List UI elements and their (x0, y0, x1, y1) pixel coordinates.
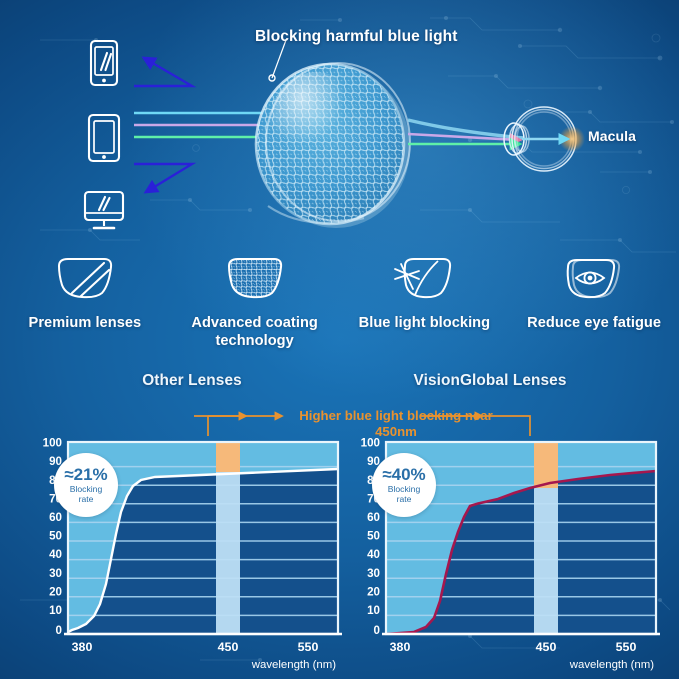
lens-eye-icon (563, 252, 625, 304)
feature-row: Premium lenses Advanced coating technolo… (0, 252, 679, 356)
feature-label: Reduce eye fatigue (527, 315, 661, 333)
chart-visionglobal-lenses: 1009080 706050 403020 100 380450550 wave… (338, 434, 668, 679)
feature-reduce-eye-fatigue: Reduce eye fatigue (509, 252, 679, 356)
x-axis-title-left: wavelength (nm) (251, 659, 336, 671)
svg-text:10: 10 (367, 604, 380, 617)
lens-blocking-icon (393, 252, 455, 304)
device-icon-group (82, 38, 130, 256)
svg-text:60: 60 (49, 511, 62, 524)
svg-text:30: 30 (49, 567, 62, 580)
badge-caption: Blocking rate (70, 485, 102, 504)
blocking-bar-left (216, 442, 240, 472)
infographic-root: Blocking harmful blue light Macula Premi… (0, 0, 679, 679)
badge-percent: ≈21% (64, 466, 107, 483)
blocking-rate-badge-right: ≈40% Blocking rate (372, 453, 436, 517)
svg-text:20: 20 (367, 585, 380, 598)
svg-text:100: 100 (361, 437, 380, 450)
svg-text:380: 380 (72, 640, 93, 654)
lens-coating-icon (224, 252, 286, 304)
lens-shine-icon (54, 252, 116, 304)
coated-lens (248, 56, 428, 232)
blocking-rate-badge-left: ≈21% Blocking rate (54, 453, 118, 517)
badge-caption: Blocking rate (388, 485, 420, 504)
svg-text:40: 40 (49, 548, 62, 561)
feature-blue-light-blocking: Blue light blocking (340, 252, 510, 356)
svg-text:60: 60 (367, 511, 380, 524)
charts-section: Other Lenses VisionGlobal Lenses Higher … (0, 372, 679, 679)
feature-premium-lenses: Premium lenses (0, 252, 170, 356)
svg-text:550: 550 (616, 640, 637, 654)
svg-text:40: 40 (367, 548, 380, 561)
svg-text:0: 0 (374, 624, 380, 637)
svg-text:50: 50 (367, 530, 380, 543)
svg-text:30: 30 (367, 567, 380, 580)
blocking-callout-label: Blocking harmful blue light (255, 28, 457, 46)
smartphone-icon (82, 38, 130, 90)
feature-advanced-coating: Advanced coating technology (170, 252, 340, 356)
feature-label: Premium lenses (29, 315, 142, 333)
svg-text:0: 0 (56, 624, 62, 637)
x-tick-labels-right: 380450550 (390, 640, 637, 654)
macula-label: Macula (588, 128, 636, 144)
svg-text:50: 50 (49, 530, 62, 543)
svg-text:20: 20 (49, 585, 62, 598)
chart-title-right: VisionGlobal Lenses (360, 372, 620, 390)
monitor-icon (82, 186, 130, 234)
tablet-icon (82, 112, 130, 164)
svg-text:10: 10 (49, 604, 62, 617)
svg-text:450: 450 (218, 640, 239, 654)
chart-title-left: Other Lenses (62, 372, 322, 390)
hero-diagram: Blocking harmful blue light Macula (0, 0, 679, 250)
svg-text:100: 100 (43, 437, 62, 450)
svg-text:550: 550 (298, 640, 319, 654)
x-axis-title-right: wavelength (nm) (569, 659, 654, 671)
chart-other-lenses: 1009080 706050 403020 100 380450550 wave… (20, 434, 350, 679)
feature-label: Blue light blocking (359, 315, 490, 333)
x-tick-labels-left: 380450550 (72, 640, 319, 654)
svg-text:450: 450 (536, 640, 557, 654)
badge-percent: ≈40% (382, 466, 425, 483)
svg-text:380: 380 (390, 640, 411, 654)
feature-label: Advanced coating technology (170, 315, 340, 351)
eye-diagram (494, 96, 594, 182)
